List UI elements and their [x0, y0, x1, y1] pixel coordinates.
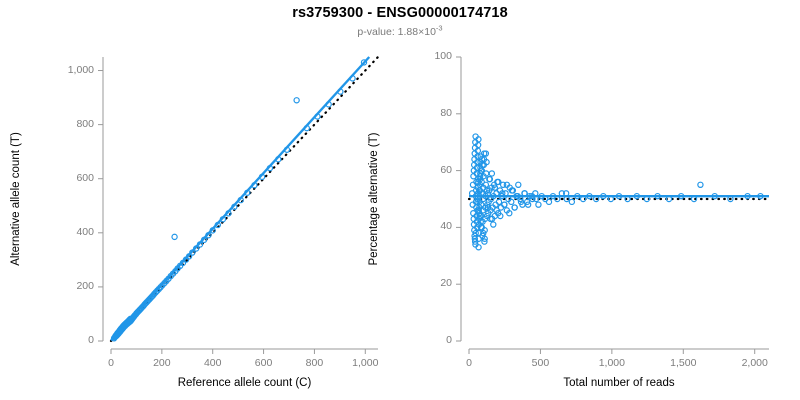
- x-axis-title-left: Reference allele count (C): [51, 377, 438, 389]
- data-point: [536, 202, 541, 207]
- x-axis-tick-label: 0: [429, 357, 509, 369]
- y-axis-tick-label: 800: [14, 118, 94, 130]
- data-point: [546, 199, 551, 204]
- data-point: [489, 171, 494, 176]
- data-point: [502, 202, 507, 207]
- x-axis-tick-label: 1,500: [643, 357, 723, 369]
- data-point: [516, 182, 521, 187]
- data-point-group: [470, 134, 763, 250]
- scatter-panel-left: Reference allele count (C) Alternative a…: [0, 0, 400, 400]
- y-axis-tick-label: 400: [14, 226, 94, 238]
- y-axis-title-right: Percentage alternative (T): [368, 57, 380, 341]
- y-axis-tick-label: 60: [372, 164, 452, 176]
- x-axis-title-right: Total number of reads: [409, 377, 800, 389]
- y-axis-tick-label: 0: [14, 334, 94, 346]
- y-axis-tick-label: 1,000: [14, 64, 94, 76]
- x-axis-tick-label: 500: [500, 357, 580, 369]
- y-axis-tick-label: 200: [14, 280, 94, 292]
- data-point: [512, 205, 517, 210]
- y-axis-tick-label: 20: [372, 277, 452, 289]
- scatter-panel-right: Total number of reads Percentage alterna…: [400, 0, 800, 400]
- figure-container: rs3759300 - ENSG00000174718 p-value: 1.8…: [0, 0, 800, 400]
- data-point: [470, 182, 475, 187]
- x-axis-tick-label: 1,000: [572, 357, 652, 369]
- scatter-plot-right: [400, 0, 800, 400]
- y-axis-tick-label: 100: [372, 50, 452, 62]
- y-axis-tick-label: 600: [14, 172, 94, 184]
- data-point: [569, 199, 574, 204]
- data-point: [172, 234, 177, 239]
- y-axis-title-left: Alternative allele count (T): [10, 57, 22, 341]
- x-axis-tick-label: 1,000: [325, 357, 405, 369]
- y-axis-tick-label: 80: [372, 107, 452, 119]
- data-point: [698, 182, 703, 187]
- x-axis-tick-label: 2,000: [715, 357, 795, 369]
- y-axis-tick-label: 0: [372, 334, 452, 346]
- data-point: [294, 98, 299, 103]
- y-axis-tick-label: 40: [372, 220, 452, 232]
- data-point: [491, 222, 496, 227]
